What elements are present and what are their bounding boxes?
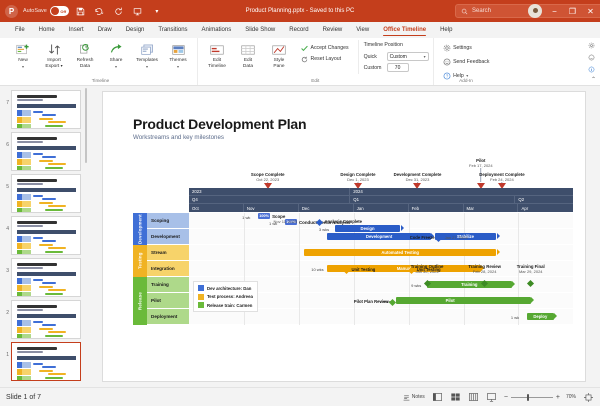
- thumb-bar: [45, 125, 63, 127]
- templates-icon: [141, 42, 154, 57]
- thumb-lane-label: [22, 243, 31, 249]
- thumb-bar: [54, 380, 76, 381]
- thumb-bar: [54, 296, 76, 297]
- task-label: Development: [366, 234, 392, 239]
- timescale-months-cell: Mar: [464, 204, 519, 212]
- import-export-button[interactable]: Import Export ▾: [39, 40, 69, 71]
- gear-icon: [443, 44, 451, 52]
- legend-item: Release train: Carmen: [198, 302, 253, 308]
- collapse-ribbon-icon[interactable]: ⌃: [591, 76, 596, 83]
- zoom-track[interactable]: [511, 397, 553, 398]
- ribbon-tab-record[interactable]: Record: [282, 25, 315, 35]
- ribbon-tab-insert[interactable]: Insert: [62, 25, 91, 35]
- edit-data-icon: [241, 42, 255, 57]
- templates-button[interactable]: Templates ▾: [132, 40, 162, 71]
- thumb-bar: [42, 240, 56, 242]
- thumb-bar: [33, 363, 43, 365]
- bar-chevron-icon: [504, 297, 507, 303]
- slide-sorter-icon[interactable]: [450, 392, 461, 402]
- thumb-title-bar: [17, 179, 57, 182]
- milestone-date: Dec 1, 2023: [340, 177, 375, 182]
- thumb-lane-label: [22, 369, 31, 375]
- timescale-months-cell: Apr: [518, 204, 573, 212]
- milestone-date: Feb 24, 2024: [479, 177, 524, 182]
- thumbnail-row[interactable]: 2: [2, 300, 85, 339]
- thumb-bar: [54, 128, 76, 129]
- autosave-knob: [51, 7, 59, 15]
- thumb-bar: [45, 335, 63, 337]
- slide-thumbnail-4[interactable]: [11, 216, 81, 255]
- legend-item: Test process: Andreea: [198, 294, 253, 300]
- thumb-timescale: [17, 272, 76, 276]
- minimize-button[interactable]: −: [549, 7, 560, 16]
- slide-canvas-area: Product Development Plan Workstreams and…: [88, 86, 600, 387]
- lane-row-label: Stream: [147, 245, 189, 260]
- timescale-months-cell: Dec: [299, 204, 354, 212]
- task-bar[interactable]: Manual: [327, 265, 481, 272]
- ribbon-tab-help[interactable]: Help: [433, 25, 459, 35]
- timescale-months-cell: Feb: [409, 204, 464, 212]
- timescale-years-row: 20232024: [189, 188, 573, 196]
- ribbon-tab-design[interactable]: Design: [119, 25, 152, 35]
- reset-layout-label: Reset Layout: [311, 56, 342, 62]
- thumbnail-number: 1: [2, 342, 9, 358]
- more-commands-icon[interactable]: ▾: [150, 4, 164, 19]
- task-bar[interactable]: Automated Testing: [304, 249, 496, 256]
- thumb-lane-label: [22, 124, 31, 129]
- slide-thumbnail-panel[interactable]: 7654321: [0, 86, 88, 387]
- milestone-date: Feb 17, 2024: [469, 163, 493, 168]
- title-bar: P AutoSave Off ▾ Product Planning.pptx -…: [0, 0, 600, 22]
- task-bar[interactable]: Design: [335, 225, 400, 232]
- slide-thumbnail-6[interactable]: [11, 132, 81, 171]
- import-export-icon: [48, 42, 61, 57]
- status-right-group: Notes − + 70%: [403, 392, 594, 402]
- send-feedback-button[interactable]: Send Feedback: [440, 56, 493, 67]
- thumb-bar: [54, 338, 76, 339]
- notes-label: Notes: [412, 394, 425, 400]
- undo-icon[interactable]: [93, 4, 107, 19]
- edit-timeline-icon: [210, 42, 224, 57]
- thumb-bar: [48, 373, 66, 375]
- accept-changes-label: Accept Changes: [311, 45, 349, 51]
- edit-data-button[interactable]: Edit Data: [233, 40, 263, 71]
- column-milestone-date: Mar 29, 2024: [517, 269, 545, 274]
- bar-chevron-icon: [554, 313, 557, 319]
- share-button[interactable]: Share ▾: [101, 40, 131, 71]
- swimlane-group-label: Development: [133, 213, 147, 245]
- thumbnail-scroll-thumb[interactable]: [85, 88, 88, 163]
- reading-view-icon[interactable]: [468, 392, 479, 402]
- inline-milestone-label: Pilot Plan Review: [354, 299, 389, 304]
- thumbnail-number: 5: [2, 174, 9, 190]
- ribbon-right-icons: [587, 41, 596, 74]
- column-milestone-date: Jan 30, 2024: [411, 269, 444, 274]
- task-label: Pilot: [446, 298, 455, 303]
- timescale-months-cell: Jan: [354, 204, 409, 212]
- normal-view-icon[interactable]: [432, 392, 443, 402]
- restore-button[interactable]: ❐: [567, 7, 578, 16]
- settings-label: Settings: [453, 45, 472, 51]
- slide-thumbnail-3[interactable]: [11, 258, 81, 297]
- close-button[interactable]: ✕: [585, 7, 596, 16]
- thumb-subtitle-bar: [17, 99, 43, 101]
- thumb-bar: [54, 254, 76, 255]
- style-pane-icon: [272, 42, 286, 57]
- inline-milestone-date: Nov 11, 2023: [274, 219, 298, 224]
- thumb-title-bar: [17, 137, 57, 140]
- thumb-subtitle-bar: [17, 183, 43, 185]
- thumbnail-number: 6: [2, 132, 9, 148]
- swimlane-group-label: Testing: [133, 245, 147, 277]
- thumb-timescale: [17, 104, 76, 108]
- bar-chevron-icon: [531, 297, 534, 303]
- quick-position-select[interactable]: Custom ▾: [387, 52, 429, 61]
- new-timeline-caret-icon[interactable]: ▾: [22, 65, 24, 69]
- thumb-bar: [54, 170, 76, 171]
- powerpoint-logo-icon: P: [5, 5, 18, 18]
- thumb-bar: [39, 328, 53, 330]
- search-placeholder: Search: [472, 8, 491, 14]
- thumbnail-number: 7: [2, 90, 9, 106]
- timeline-graphic[interactable]: Scope CompleteOct 22, 2023Design Complet…: [133, 148, 573, 373]
- milestone-date: Dec 31, 2023: [394, 177, 442, 182]
- thumb-bar: [42, 282, 56, 284]
- slide-title[interactable]: Product Development Plan: [133, 116, 306, 132]
- slide-canvas[interactable]: Product Development Plan Workstreams and…: [103, 92, 585, 381]
- thumb-bar: [33, 321, 43, 323]
- new-timeline-label: New: [18, 58, 28, 64]
- timescale-years-cell: 2024: [350, 188, 573, 195]
- thumb-bar: [39, 202, 53, 204]
- zoom-out-button[interactable]: −: [504, 394, 508, 401]
- custom-position-row: Custom 70: [364, 63, 429, 72]
- import-export-label: Import Export ▾: [45, 58, 62, 69]
- themes-icon: [172, 42, 185, 57]
- ribbon: New ▾ Import Export ▾ Refresh Data Shar: [0, 38, 600, 86]
- thumb-timescale: [17, 314, 76, 318]
- thumb-lane-label: [22, 117, 31, 123]
- reset-layout-button[interactable]: Reset Layout: [298, 54, 352, 64]
- style-pane-label: Style Pane: [273, 58, 284, 69]
- thumb-lane-label: [22, 194, 31, 200]
- ribbon-tab-slide-show[interactable]: Slide Show: [238, 25, 282, 35]
- thumb-bar: [48, 331, 66, 333]
- thumb-bar: [48, 247, 66, 249]
- thumb-bar: [45, 377, 63, 379]
- thumb-title-bar: [17, 221, 57, 224]
- thumb-bar: [54, 212, 76, 213]
- fit-to-window-icon[interactable]: [583, 392, 594, 402]
- swimlane-group-label: Release: [133, 277, 147, 325]
- feedback-icon: [443, 58, 451, 66]
- thumb-bar: [42, 114, 56, 116]
- redo-icon[interactable]: [112, 4, 126, 19]
- timeline-position-header: Timeline Position: [364, 42, 429, 48]
- zoom-in-button[interactable]: +: [556, 394, 560, 401]
- help-icon: ?: [443, 72, 451, 80]
- ribbon-group-addin: Settings Send Feedback ? Help ▾ Add-In: [433, 38, 497, 85]
- thumb-bar: [45, 167, 63, 169]
- thumbnail-number: 3: [2, 258, 9, 274]
- task-duration: 9 wks: [411, 283, 421, 288]
- timescale-quarters-row: Q4Q1Q2: [189, 196, 573, 204]
- thumb-subtitle-bar: [17, 267, 43, 269]
- quick-label: Quick: [364, 54, 384, 60]
- ribbon-tab-animations[interactable]: Animations: [195, 25, 239, 35]
- thumb-timescale: [17, 188, 76, 192]
- send-feedback-label: Send Feedback: [453, 59, 489, 65]
- lane-row-label: Pilot: [147, 293, 189, 308]
- thumb-bar: [48, 121, 66, 123]
- thumb-lane-label: [22, 166, 31, 171]
- smiley-icon[interactable]: [587, 53, 596, 62]
- ribbon-tab-draw[interactable]: Draw: [91, 25, 119, 35]
- refresh-data-button[interactable]: Refresh Data: [70, 40, 100, 71]
- ribbon-tab-office-timeline[interactable]: Office Timeline: [376, 25, 433, 35]
- lane-row-label: Training: [147, 277, 189, 292]
- custom-position-input[interactable]: 70: [387, 63, 409, 72]
- refresh-data-label: Refresh Data: [77, 58, 94, 69]
- slide-count-label: Slide 1 of 7: [6, 394, 41, 401]
- thumbnail-row[interactable]: 5: [2, 174, 85, 213]
- ribbon-tab-review[interactable]: Review: [316, 25, 350, 35]
- account-avatar[interactable]: [528, 4, 542, 18]
- thumb-timescale: [17, 356, 76, 360]
- themes-button[interactable]: Themes ▾: [163, 40, 193, 71]
- thumb-title-bar: [17, 305, 57, 308]
- inline-milestone-label: Analysis Complete: [325, 219, 362, 224]
- templates-label: Templates: [136, 58, 158, 64]
- thumb-bar: [42, 156, 56, 158]
- autosave-state: Off: [60, 9, 66, 14]
- inline-milestone-date: Jan 27, 2024: [445, 235, 468, 240]
- legend-label: Release train: Carmen: [207, 303, 252, 308]
- milestone-date: Oct 22, 2023: [251, 177, 285, 182]
- thumb-title-bar: [17, 347, 57, 350]
- refresh-data-icon: [79, 42, 92, 57]
- timescale-months-row: OctNovDecJanFebMarApr: [189, 204, 573, 212]
- thumbnail-number: 4: [2, 216, 9, 232]
- thumb-lane-label: [22, 201, 31, 207]
- thumb-subtitle-bar: [17, 309, 43, 311]
- quick-position-row: Quick Custom ▾: [364, 52, 429, 61]
- thumb-bar: [45, 209, 63, 211]
- templates-caret-icon[interactable]: ▾: [146, 65, 148, 69]
- task-bar[interactable]: Training: [427, 281, 511, 288]
- month-gridline: [299, 213, 300, 325]
- legend-label: Test process: Andreea: [207, 294, 253, 299]
- share-label: Share: [110, 58, 123, 64]
- custom-label: Custom: [364, 65, 384, 71]
- thumb-subtitle-bar: [17, 225, 43, 227]
- lane-row-label: Scoping: [147, 213, 189, 228]
- thumb-bar: [33, 279, 43, 281]
- thumb-bar: [39, 244, 53, 246]
- thumb-bar: [39, 286, 53, 288]
- thumb-bar: [48, 205, 66, 207]
- legend-item: Dev architecture: Dan: [198, 285, 253, 291]
- window-controls: − ❐ ✕: [528, 4, 596, 18]
- autosave-label: AutoSave: [23, 8, 47, 14]
- ribbon-group-edit-label: Edit: [311, 78, 319, 83]
- thumb-lane-label: [22, 320, 31, 326]
- share-caret-icon[interactable]: ▾: [115, 65, 117, 69]
- ribbon-tab-view[interactable]: View: [349, 25, 376, 35]
- timescale-months-cell: Oct: [189, 204, 244, 212]
- thumb-bar: [33, 237, 43, 239]
- thumbnail-row[interactable]: 6: [2, 132, 85, 171]
- lane-row-label: Deployment: [147, 309, 189, 324]
- inline-milestone-label: Code Freeze: [410, 235, 435, 240]
- ribbon-group-edit: Edit Timeline Edit Data Style Pane Accep…: [197, 38, 433, 85]
- ribbon-tab-file[interactable]: File: [8, 25, 32, 35]
- task-bar[interactable]: Pilot: [396, 297, 504, 304]
- chevron-down-icon[interactable]: ▾: [424, 54, 426, 59]
- task-label: Training: [461, 282, 477, 287]
- lane-row-label: Development: [147, 229, 189, 244]
- task-bar[interactable]: Deploy: [527, 313, 554, 320]
- task-label: Deploy: [533, 314, 547, 319]
- zoom-slider[interactable]: − + 70%: [504, 394, 576, 401]
- task-duration: 1 wk: [242, 215, 250, 220]
- edit-timeline-button[interactable]: Edit Timeline: [202, 40, 232, 71]
- thumb-bar: [42, 366, 56, 368]
- thumb-lane-label: [22, 110, 31, 116]
- autosave-switch[interactable]: Off: [50, 6, 69, 16]
- legend-label: Dev architecture: Dan: [207, 286, 251, 291]
- thumb-lane-label: [22, 250, 31, 255]
- ribbon-group-addin-label: Add-In: [459, 78, 473, 83]
- thumbnail-row[interactable]: 3: [2, 258, 85, 297]
- thumb-bar: [33, 111, 43, 113]
- thumb-bar: [33, 195, 43, 197]
- thumb-lane-label: [22, 285, 31, 291]
- slide-thumbnail-2[interactable]: [11, 300, 81, 339]
- legend-swatch: [198, 302, 204, 308]
- ribbon-tab-transitions[interactable]: Transitions: [151, 25, 194, 35]
- thumbnail-row[interactable]: 7: [2, 90, 85, 129]
- timescale-years-cell: 2023: [189, 188, 350, 195]
- thumb-bar: [39, 370, 53, 372]
- thumb-lane-label: [22, 278, 31, 284]
- thumb-lane-label: [22, 334, 31, 339]
- column-milestone[interactable]: Training OutlineJan 30, 2024: [411, 264, 444, 274]
- save-icon[interactable]: [74, 4, 88, 19]
- autosave-toggle[interactable]: AutoSave Off: [23, 6, 69, 16]
- gear-icon[interactable]: [587, 41, 596, 50]
- inline-milestone-label: Unit Testing: [351, 267, 375, 272]
- check-icon: [301, 45, 308, 52]
- zoom-knob[interactable]: [527, 394, 530, 401]
- thumb-lane-label: [22, 292, 31, 297]
- quick-position-value: Custom: [390, 54, 407, 60]
- thumb-lane-label: [22, 208, 31, 213]
- thumb-lane-label: [22, 376, 31, 381]
- notes-button[interactable]: Notes: [403, 394, 425, 401]
- svg-text:?: ?: [445, 73, 448, 78]
- thumb-bar: [39, 160, 53, 162]
- thumbnail-row[interactable]: 4: [2, 216, 85, 255]
- present-icon[interactable]: [131, 4, 145, 19]
- thumb-lane-label: [22, 159, 31, 165]
- thumb-bar: [39, 118, 53, 120]
- style-pane-button[interactable]: Style Pane: [264, 40, 294, 71]
- task-duration: 10 wks: [311, 267, 323, 272]
- bar-chevron-icon: [512, 281, 515, 287]
- bar-chevron-icon: [497, 249, 500, 255]
- reset-icon: [301, 56, 308, 63]
- thumb-timescale: [17, 146, 76, 150]
- column-milestone-date: Feb 28, 2024: [468, 269, 501, 274]
- main-area: 7654321 Product Development Plan Workstr…: [0, 86, 600, 387]
- legend: Dev architecture: DanTest process: Andre…: [193, 281, 258, 312]
- ribbon-tab-home[interactable]: Home: [32, 25, 62, 35]
- slideshow-icon[interactable]: [486, 392, 497, 402]
- lane-row-label: Integration: [147, 261, 189, 276]
- thumb-subtitle-bar: [17, 141, 43, 143]
- thumb-lane-label: [22, 236, 31, 242]
- task-duration: 1 wk: [511, 315, 519, 320]
- thumb-subtitle-bar: [17, 351, 43, 353]
- zoom-level-label: 70%: [563, 394, 576, 400]
- thumb-bar: [48, 289, 66, 291]
- search-icon: [461, 8, 468, 15]
- thumbnail-scrollbar[interactable]: [84, 86, 88, 387]
- timescale-months-cell: Nov: [244, 204, 299, 212]
- ribbon-group-timeline-label: Timeline: [92, 78, 110, 83]
- thumb-bar: [33, 153, 43, 155]
- thumb-bar: [45, 293, 63, 295]
- new-timeline-button[interactable]: New ▾: [8, 40, 38, 71]
- share-icon: [110, 42, 123, 57]
- new-timeline-icon: [16, 42, 30, 57]
- task-label: Automated Testing: [381, 250, 419, 255]
- thumbnail-row[interactable]: 1: [2, 342, 85, 381]
- bar-chevron-icon: [401, 225, 404, 231]
- thumb-bar: [42, 324, 56, 326]
- timescale-quarters-cell: Q4: [189, 196, 350, 203]
- notes-icon: [403, 394, 410, 401]
- task-label: Design: [361, 226, 375, 231]
- themes-label: Themes: [169, 58, 186, 64]
- slide-subtitle[interactable]: Workstreams and key milestones: [133, 134, 224, 141]
- themes-caret-icon[interactable]: ▾: [177, 65, 179, 69]
- slide-thumbnail-5[interactable]: [11, 174, 81, 213]
- slide-thumbnail-7[interactable]: [11, 90, 81, 129]
- info-icon[interactable]: [587, 65, 596, 74]
- edit-data-label: Edit Data: [243, 58, 253, 69]
- thumb-lane-label: [22, 362, 31, 368]
- thumb-bar: [42, 198, 56, 200]
- slide-thumbnail-1[interactable]: [11, 342, 81, 381]
- ribbon-tab-bar: FileHomeInsertDrawDesignTransitionsAnima…: [0, 22, 600, 38]
- column-milestone[interactable]: Training FinalMar 29, 2024: [517, 264, 545, 274]
- status-bar: Slide 1 of 7 Notes − + 70%: [0, 387, 600, 406]
- thumb-title-bar: [17, 95, 57, 98]
- thumb-title-bar: [17, 263, 57, 266]
- legend-swatch: [198, 294, 204, 300]
- edit-timeline-label: Edit Timeline: [208, 58, 226, 69]
- settings-button[interactable]: Settings: [440, 42, 493, 53]
- thumb-lane-label: [22, 327, 31, 333]
- column-milestone[interactable]: Training ReviewFeb 28, 2024: [468, 264, 501, 274]
- task-duration: 3 wks: [319, 227, 329, 232]
- accept-changes-button[interactable]: Accept Changes: [298, 43, 352, 53]
- thumb-bar: [45, 251, 63, 253]
- timescale-quarters-cell: Q2: [515, 196, 573, 203]
- ribbon-group-timeline: New ▾ Import Export ▾ Refresh Data Shar: [4, 38, 197, 85]
